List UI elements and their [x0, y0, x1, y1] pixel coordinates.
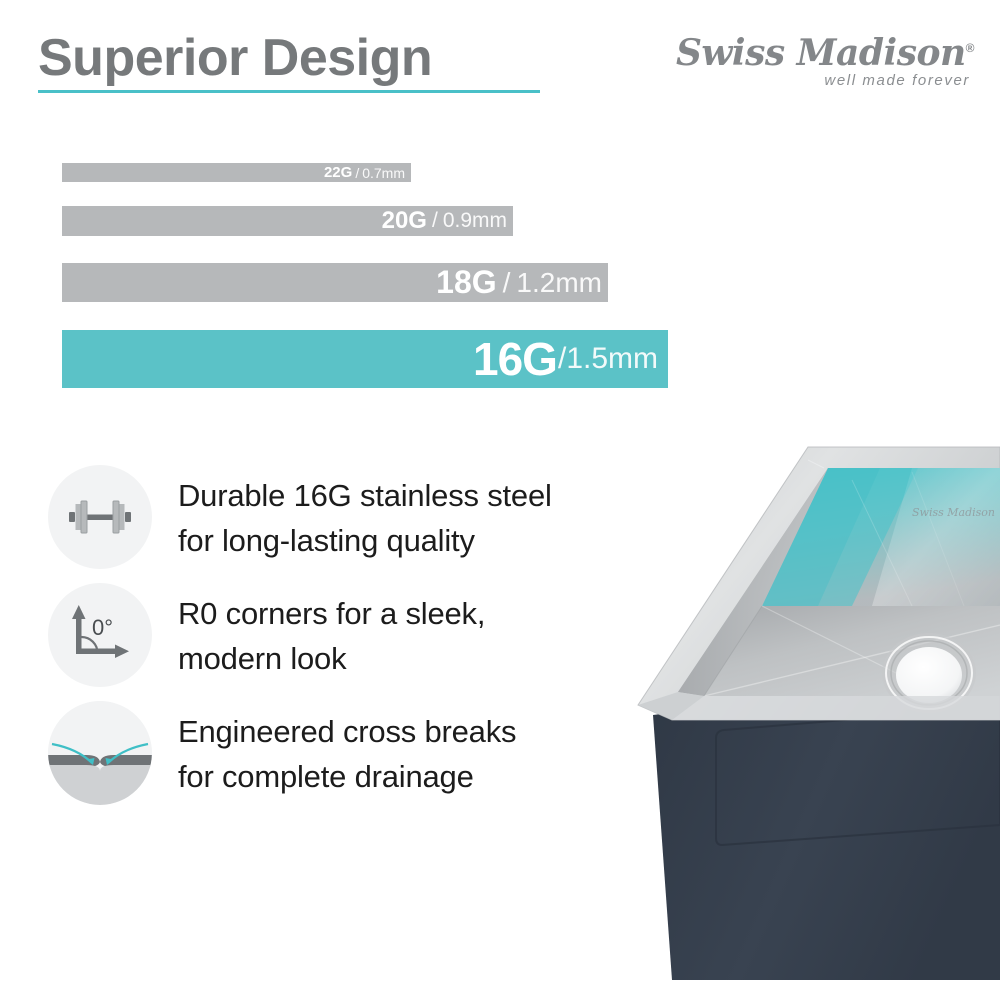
gauge-bar-16g-thickness: 1.5mm: [566, 342, 658, 376]
gauge-bar-16g-label: 16G: [473, 332, 557, 386]
feature-item-durability-text: Durable 16G stainless steel for long-las…: [178, 473, 608, 563]
gauge-bar-16g-separator: /: [558, 342, 566, 376]
feature-durability-line2: for long-lasting quality: [178, 518, 608, 563]
gauge-bar-20g-label: 20G: [382, 207, 427, 235]
angle-zero-degree-icon: 0°: [48, 583, 152, 687]
registered-trademark-icon: ®: [966, 41, 974, 55]
gauge-bar-20g-thickness: 0.9mm: [443, 209, 507, 233]
angle-zero-degree-icon-glyph: 0°: [48, 583, 152, 687]
logo-wordmark: Swiss Madison®: [674, 28, 974, 73]
sink-illustration: Swiss Madison: [612, 420, 1000, 980]
feature-item-durability: Durable 16G stainless steel for long-las…: [48, 465, 608, 583]
gauge-bar-22g-thickness: 0.7mm: [362, 165, 405, 181]
gauge-bar-20g-separator: /: [432, 209, 438, 233]
feature-durability-line1: Durable 16G stainless steel: [178, 473, 608, 518]
gauge-bar-18g-thickness: 1.2mm: [516, 267, 602, 299]
cross-break-drainage-icon: [48, 701, 152, 805]
brand-logo: Swiss Madison® well made forever: [674, 28, 974, 96]
infographic-page: Superior Design Swiss Madison® well made…: [0, 0, 1000, 1000]
feature-drainage-line1: Engineered cross breaks: [178, 709, 608, 754]
sink-etched-logo: Swiss Madison: [912, 506, 995, 519]
page-header: Superior Design: [38, 24, 598, 104]
gauge-bar-18g-label: 18G: [436, 264, 496, 301]
page-title: Superior Design: [38, 24, 432, 92]
gauge-bar-18g-separator: /: [503, 267, 511, 299]
gauge-bar-16g-highlighted: 16G / 1.5mm: [62, 330, 668, 388]
gauge-bar-22g-separator: /: [355, 165, 359, 181]
gauge-bar-20g: 20G / 0.9mm: [62, 206, 513, 236]
feature-corners-line2: modern look: [178, 636, 608, 681]
feature-list: Durable 16G stainless steel for long-las…: [48, 465, 608, 819]
sink-front-rim: [672, 696, 1000, 720]
angle-icon-label: 0°: [92, 615, 113, 640]
dumbbell-icon-glyph: [48, 465, 152, 569]
logo-wordmark-text: Swiss Madison: [676, 32, 966, 74]
gauge-bar-18g: 18G / 1.2mm: [62, 263, 608, 302]
feature-drainage-line2: for complete drainage: [178, 754, 608, 799]
product-photo-sink: Swiss Madison: [612, 420, 1000, 980]
gauge-comparison-chart: 22G / 0.7mm 20G / 0.9mm 18G / 1.2mm 16G …: [62, 160, 682, 395]
dumbbell-icon: [48, 465, 152, 569]
feature-item-corners: 0° R0 corners for a sleek, modern look: [48, 583, 608, 701]
cross-break-drainage-icon-glyph: [48, 701, 152, 805]
gauge-bar-22g-label: 22G: [324, 164, 352, 181]
logo-tagline: well made forever: [674, 71, 974, 91]
gauge-bar-22g: 22G / 0.7mm: [62, 163, 411, 182]
feature-item-corners-text: R0 corners for a sleek, modern look: [178, 591, 608, 681]
feature-corners-line1: R0 corners for a sleek,: [178, 591, 608, 636]
feature-item-drainage-text: Engineered cross breaks for complete dra…: [178, 709, 608, 799]
feature-item-drainage: Engineered cross breaks for complete dra…: [48, 701, 608, 819]
